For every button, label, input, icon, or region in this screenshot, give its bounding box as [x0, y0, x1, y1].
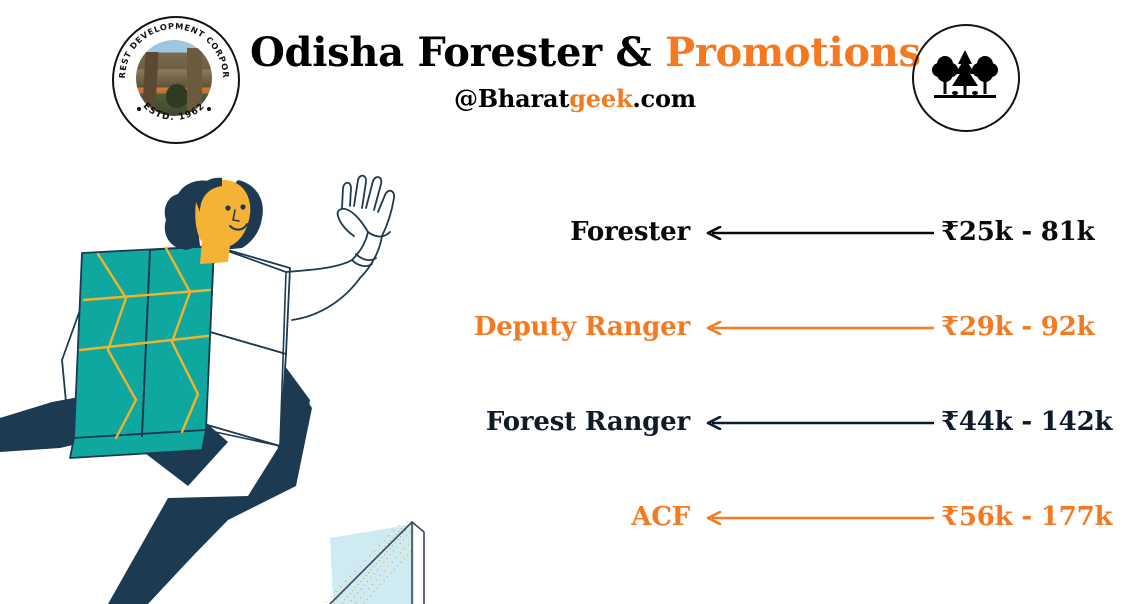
header: ODISHA FOREST DEVELOPMENT CORPORATION LT…	[0, 0, 1136, 155]
site-handle-pre: @Bharat	[454, 84, 569, 113]
table-row: Forest Ranger ₹44k - 142k	[440, 400, 1136, 444]
three-trees-badge	[912, 24, 1020, 132]
site-handle: @Bharatgeek.com	[250, 84, 900, 113]
running-woman-carrying-box	[0, 150, 430, 604]
odisha-forest-development-corporation-seal: ODISHA FOREST DEVELOPMENT CORPORATION LT…	[112, 16, 240, 144]
row-value-deputy-ranger: ₹29k - 92k	[941, 312, 1136, 342]
table-row: Deputy Ranger ₹29k - 92k	[440, 305, 1136, 349]
seal-ring-text: ODISHA FOREST DEVELOPMENT CORPORATION LT…	[112, 16, 236, 140]
row-value-forest-ranger: ₹44k - 142k	[941, 407, 1136, 437]
page-title-accent: Promotions	[665, 29, 921, 76]
page-title-main: Odisha Forester &	[250, 29, 665, 76]
row-label-forester: Forester	[440, 217, 694, 247]
site-handle-accent: geek	[569, 84, 632, 113]
arrow-deputy-ranger	[704, 315, 931, 339]
arrow-forester	[704, 220, 931, 244]
arrow-forest-ranger	[704, 410, 931, 434]
prism-shape	[316, 522, 424, 604]
site-handle-post: .com	[632, 84, 696, 113]
row-label-deputy-ranger: Deputy Ranger	[440, 312, 694, 342]
salary-rows: Forester ₹25k - 81k Deputy Ranger ₹29k -…	[440, 190, 1136, 560]
title-block: Odisha Forester & Promotions @Bharatgeek…	[250, 30, 900, 113]
three-trees-icon	[932, 46, 998, 108]
row-value-forester: ₹25k - 81k	[941, 217, 1136, 247]
table-row: Forester ₹25k - 81k	[440, 210, 1136, 254]
table-row: ACF ₹56k - 177k	[440, 495, 1136, 539]
row-label-acf: ACF	[440, 502, 694, 532]
page-title: Odisha Forester & Promotions	[250, 30, 900, 76]
row-label-forest-ranger: Forest Ranger	[440, 407, 694, 437]
svg-text:ESTD. 1962: ESTD. 1962	[141, 101, 207, 123]
svg-text:ODISHA FOREST DEVELOPMENT CORP: ODISHA FOREST DEVELOPMENT CORPORATION LT…	[112, 16, 231, 79]
arrow-acf	[704, 505, 931, 529]
row-value-acf: ₹56k - 177k	[941, 502, 1136, 532]
